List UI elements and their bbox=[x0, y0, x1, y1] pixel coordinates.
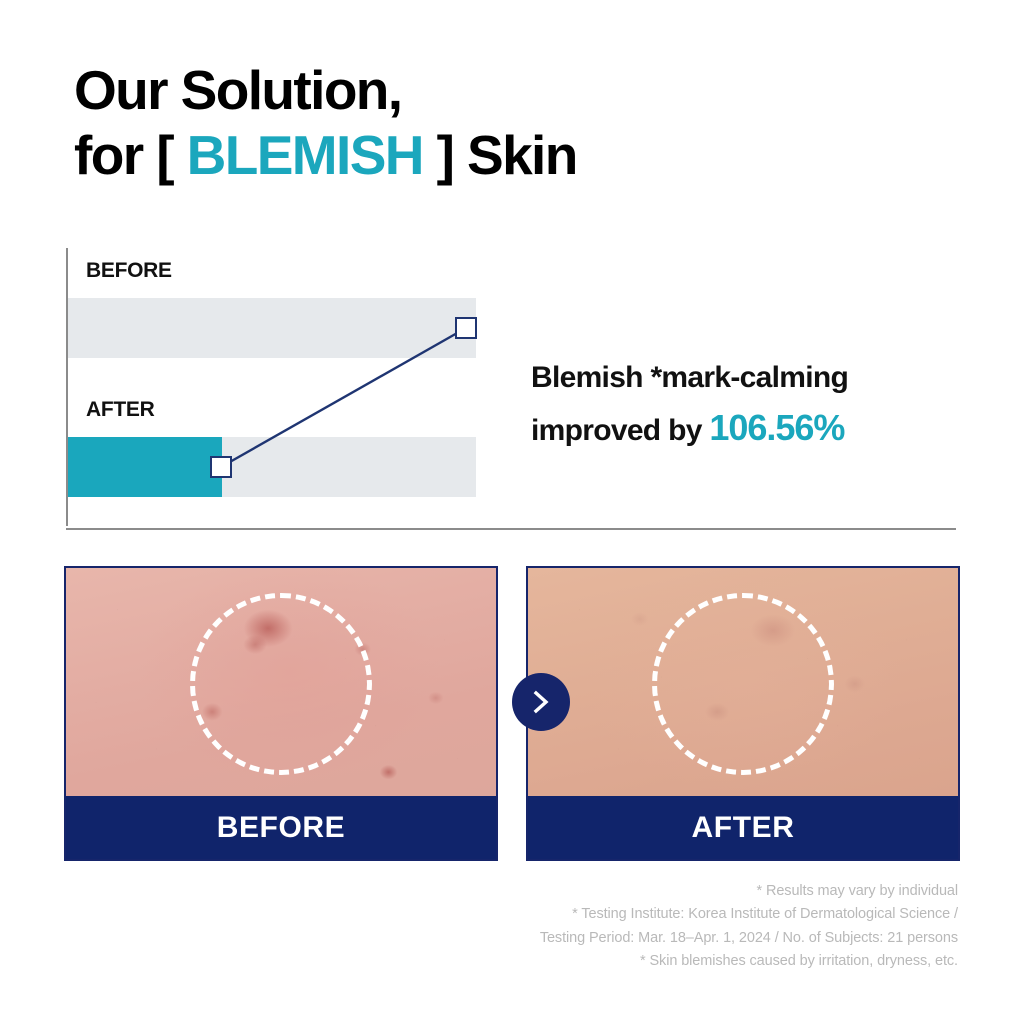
chart-marker-after bbox=[210, 456, 232, 478]
chart-marker-before bbox=[455, 317, 477, 339]
headline-accent-blemish: BLEMISH bbox=[187, 124, 423, 186]
result-statement: Blemish *mark-calming improved by 106.56… bbox=[531, 355, 961, 455]
result-percent-value: 106.56% bbox=[709, 407, 844, 448]
chevron-right-glyph bbox=[530, 689, 552, 715]
result-line-1: Blemish *mark-calming bbox=[531, 355, 961, 401]
footnote-line: * Skin blemishes caused by irritation, d… bbox=[338, 950, 958, 973]
before-label: BEFORE bbox=[66, 796, 496, 859]
after-focus-circle-icon bbox=[652, 593, 834, 775]
result-prefix: improved by bbox=[531, 414, 709, 447]
after-skin-photo bbox=[528, 568, 958, 800]
footnote-line: * Results may vary by individual bbox=[338, 880, 958, 903]
headline-suffix: ] Skin bbox=[423, 124, 577, 186]
footnote-line: Testing Period: Mar. 18–Apr. 1, 2024 / N… bbox=[338, 927, 958, 950]
after-label: AFTER bbox=[528, 796, 958, 859]
before-focus-circle-icon bbox=[190, 593, 372, 775]
headline-line-1: Our Solution, bbox=[74, 58, 577, 123]
before-skin-photo bbox=[66, 568, 496, 800]
footnotes: * Results may vary by individual * Testi… bbox=[338, 880, 958, 974]
headline-line-2: for [ BLEMISH ] Skin bbox=[74, 123, 577, 188]
footnote-line: * Testing Institute: Korea Institute of … bbox=[338, 903, 958, 926]
before-card: BEFORE bbox=[64, 566, 498, 861]
result-line-2: improved by 106.56% bbox=[531, 401, 961, 456]
before-after-comparison: BEFORE AFTER bbox=[64, 566, 960, 861]
after-card: AFTER bbox=[526, 566, 960, 861]
chevron-right-icon bbox=[512, 673, 570, 731]
headline-prefix: for [ bbox=[74, 124, 187, 186]
page-title: Our Solution, for [ BLEMISH ] Skin bbox=[74, 58, 577, 188]
